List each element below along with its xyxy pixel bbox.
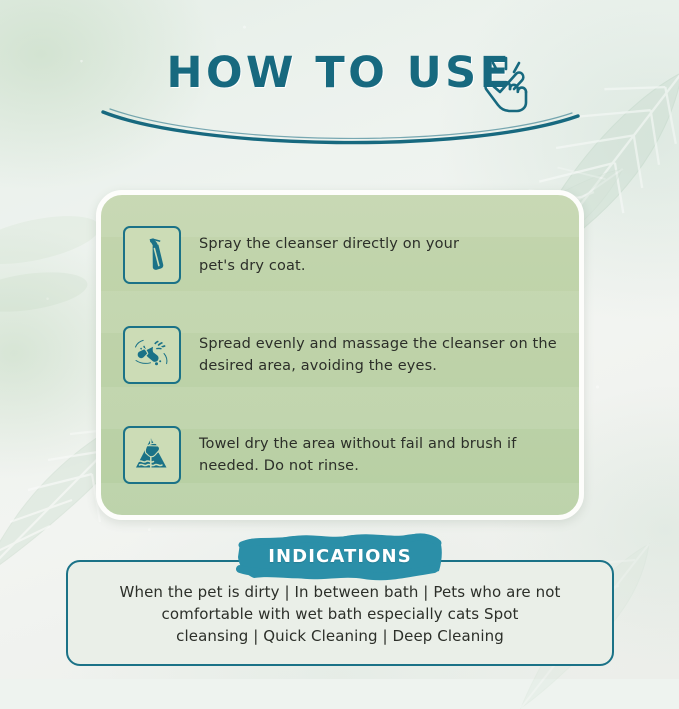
page-header: HOW TO USE (0, 52, 679, 95)
indications-section: INDICATIONS When the pet is dirty | In b… (66, 560, 614, 666)
step-text: Towel dry the area without fail and brus… (199, 433, 517, 477)
step-text-line1: Spread evenly and massage the cleanser o… (199, 333, 557, 355)
step-text: Spread evenly and massage the cleanser o… (199, 333, 557, 377)
towel-dry-icon (123, 426, 181, 484)
indications-banner: INDICATIONS (234, 531, 446, 581)
step-text-line2: needed. Do not rinse. (199, 455, 517, 477)
title-underline-swoosh (0, 106, 679, 150)
step-row: Spread evenly and massage the cleanser o… (101, 313, 579, 397)
indications-line2: comfortable with wet bath especially cat… (94, 604, 586, 626)
indications-banner-label: INDICATIONS (268, 546, 412, 567)
step-row: Towel dry the area without fail and brus… (101, 413, 579, 497)
step-text-line2: desired area, avoiding the eyes. (199, 355, 557, 377)
step-text-line1: Spray the cleanser directly on your (199, 233, 459, 255)
how-to-use-steps-card: Spray the cleanser directly on your pet'… (96, 190, 584, 520)
indications-text: When the pet is dirty | In between bath … (94, 582, 586, 648)
step-text-line2: pet's dry coat. (199, 255, 459, 277)
spray-bottle-icon (123, 226, 181, 284)
step-text: Spray the cleanser directly on your pet'… (199, 233, 459, 277)
indications-line1: When the pet is dirty | In between bath … (94, 582, 586, 604)
hands-massage-icon (123, 326, 181, 384)
indications-line3: cleansing | Quick Cleaning | Deep Cleani… (94, 626, 586, 648)
step-row: Spray the cleanser directly on your pet'… (101, 213, 579, 297)
page-title: HOW TO USE (166, 52, 512, 95)
step-text-line1: Towel dry the area without fail and brus… (199, 433, 517, 455)
